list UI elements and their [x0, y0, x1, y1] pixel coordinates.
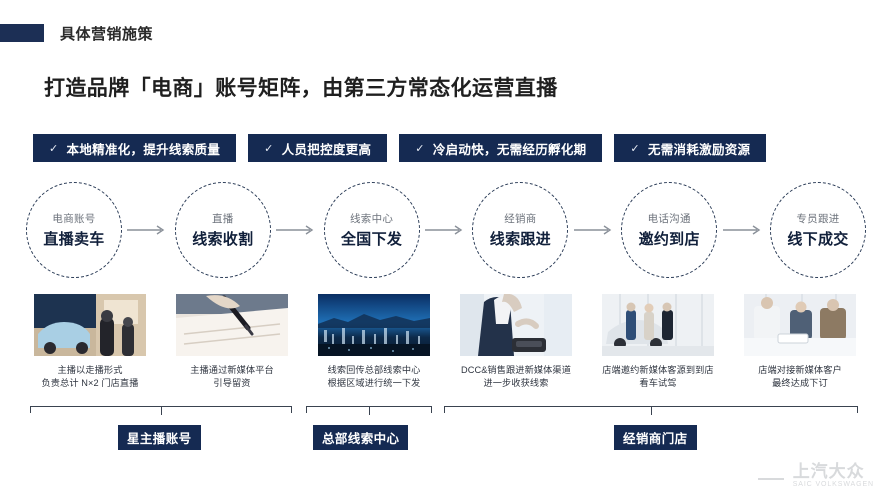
kicker-accent-bar: [0, 24, 44, 42]
badge-4: ✓ 无需消耗激励资源: [614, 134, 766, 162]
flow-node-title: 线索收割: [192, 228, 253, 249]
caption-line-1: DCC&销售跟进新媒体渠道: [441, 364, 591, 377]
watermark-logo: 上汽大众 SAIC VOLKSWAGEN: [758, 463, 874, 488]
step-caption-3: 线索回传总部线索中心 根据区域进行统一下发: [299, 364, 449, 391]
flow-node-title: 直播卖车: [43, 228, 104, 249]
photo-signing-form: [176, 294, 288, 356]
photo-dealership-customers: [602, 294, 714, 356]
step-caption-1: 主播以走播形式 负责总计 N×2 门店直播: [15, 364, 165, 391]
badge-2: ✓ 人员把控度更高: [248, 134, 387, 162]
step-caption-4: DCC&销售跟进新媒体渠道 进一步收获线索: [441, 364, 591, 391]
arrow-right-icon: [271, 223, 324, 237]
badge-label: 无需消耗激励资源: [648, 139, 750, 158]
caption-line-2: 根据区域进行统一下发: [299, 377, 449, 390]
logo-dash-icon: [758, 478, 784, 480]
caption-line-2: 进一步收获线索: [441, 377, 591, 390]
arrow-right-icon: [122, 223, 175, 237]
group-bracket-2: [306, 406, 432, 422]
photo-call-center-agent: [460, 294, 572, 356]
check-icon: ✓: [630, 142, 640, 155]
flow-node-5: 电话沟通 邀约到店: [621, 182, 717, 278]
flow-node-subtitle: 线索中心: [350, 211, 393, 226]
caption-line-1: 店端对接新媒体客户: [725, 364, 875, 377]
caption-line-1: 店端邀约新媒体客源到到店: [583, 364, 733, 377]
process-flow: 电商账号 直播卖车 直播 线索收割 线索中心 全国下发 经销商 线索跟进 电话沟: [26, 182, 866, 278]
flow-node-title: 线索跟进: [490, 228, 551, 249]
caption-line-2: 看车试驾: [583, 377, 733, 390]
flow-node-3: 线索中心 全国下发: [324, 182, 420, 278]
check-icon: ✓: [49, 142, 59, 155]
group-label-hq-lead-center: 总部线索中心: [313, 425, 408, 450]
photo-sales-consultation: [744, 294, 856, 356]
step-caption-5: 店端邀约新媒体客源到到店 看车试驾: [583, 364, 733, 391]
flow-node-subtitle: 专员跟进: [796, 211, 839, 226]
check-icon: ✓: [264, 142, 274, 155]
caption-line-2: 最终达成下订: [725, 377, 875, 390]
kicker-label: 具体营销施策: [60, 23, 153, 44]
step-caption-6: 店端对接新媒体客户 最终达成下订: [725, 364, 875, 391]
badge-3: ✓ 冷启动快，无需经历孵化期: [399, 134, 602, 162]
flow-node-1: 电商账号 直播卖车: [26, 182, 122, 278]
brand-name-cn: 上汽大众: [793, 463, 874, 481]
group-label-star-anchor: 星主播账号: [118, 425, 201, 450]
group-bracket-1: [30, 406, 292, 422]
step-caption-2: 主播通过新媒体平台 引导留资: [157, 364, 307, 391]
check-icon: ✓: [415, 142, 425, 155]
badge-label: 冷启动快，无需经历孵化期: [433, 139, 587, 158]
flow-node-title: 全国下发: [341, 228, 402, 249]
caption-line-2: 引导留资: [157, 377, 307, 390]
slide-root: 具体营销施策 打造品牌「电商」账号矩阵，由第三方常态化运营直播 ✓ 本地精准化，…: [0, 0, 888, 500]
arrow-right-icon: [420, 223, 473, 237]
group-label-dealer-store: 经销商门店: [614, 425, 697, 450]
photo-city-skyline-night: [318, 294, 430, 356]
caption-line-2: 负责总计 N×2 门店直播: [15, 377, 165, 390]
badge-label: 人员把控度更高: [282, 139, 372, 158]
flow-node-subtitle: 经销商: [504, 211, 536, 226]
flow-node-subtitle: 电话沟通: [648, 211, 691, 226]
photo-row: [0, 294, 888, 356]
badge-row: ✓ 本地精准化，提升线索质量 ✓ 人员把控度更高 ✓ 冷启动快，无需经历孵化期 …: [33, 134, 766, 162]
arrow-right-icon: [717, 223, 770, 237]
flow-node-6: 专员跟进 线下成交: [770, 182, 866, 278]
flow-node-2: 直播 线索收割: [175, 182, 271, 278]
brand-name-en: SAIC VOLKSWAGEN: [793, 481, 874, 488]
flow-node-subtitle: 直播: [212, 211, 234, 226]
flow-node-4: 经销商 线索跟进: [472, 182, 568, 278]
arrow-right-icon: [568, 223, 621, 237]
group-bracket-3: [444, 406, 858, 422]
caption-line-1: 线索回传总部线索中心: [299, 364, 449, 377]
badge-label: 本地精准化，提升线索质量: [67, 139, 221, 158]
badge-1: ✓ 本地精准化，提升线索质量: [33, 134, 236, 162]
flow-node-title: 线下成交: [787, 228, 848, 249]
flow-node-title: 邀约到店: [639, 228, 700, 249]
flow-node-subtitle: 电商账号: [52, 211, 95, 226]
photo-livestream-showroom: [34, 294, 146, 356]
caption-line-1: 主播通过新媒体平台: [157, 364, 307, 377]
page-title: 打造品牌「电商」账号矩阵，由第三方常态化运营直播: [44, 72, 558, 102]
kicker: 具体营销施策: [0, 22, 153, 44]
caption-line-1: 主播以走播形式: [15, 364, 165, 377]
